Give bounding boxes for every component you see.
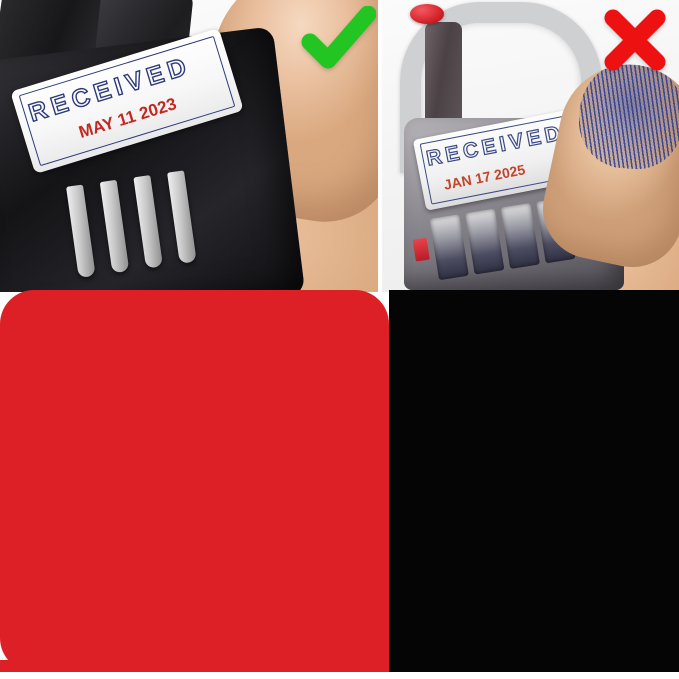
red-cross-icon xyxy=(602,8,668,72)
our-product-panel xyxy=(0,290,389,672)
comparison-infographic: RECEIVED MAY 11 2023 RECEIVED xyxy=(0,0,679,679)
ink-stain-icon xyxy=(576,57,679,172)
green-check-icon xyxy=(300,6,376,72)
stamp-knob-right xyxy=(410,4,444,24)
other-products-panel xyxy=(389,290,679,672)
photo-area: RECEIVED MAY 11 2023 RECEIVED xyxy=(0,0,679,292)
